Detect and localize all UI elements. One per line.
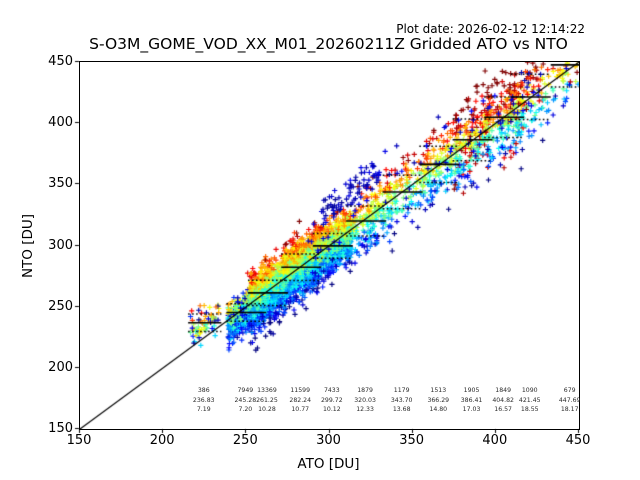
y-tick-label: 200: [33, 361, 73, 374]
bin-stat-std: 18.17: [544, 405, 596, 415]
scatter-canvas: [80, 62, 579, 429]
bin-stats-column: 679447.6918.17: [544, 386, 596, 415]
y-tick-label: 350: [33, 177, 73, 190]
plot-area: [79, 61, 580, 430]
x-tick-label: 150: [49, 434, 109, 447]
x-tick-label: 300: [299, 434, 359, 447]
plot-date-text: Plot date: 2026-02-12 12:14:22: [0, 22, 585, 36]
y-tick-label: 400: [33, 116, 73, 129]
x-axis-title: ATO [DU]: [79, 456, 578, 472]
y-axis-title: NTO [DU]: [20, 186, 36, 306]
bin-statistics-table: 386236.837.197949245.287.2013369261.2510…: [79, 386, 578, 420]
x-tick-label: 400: [465, 434, 525, 447]
x-tick-label: 350: [382, 434, 442, 447]
y-tick-label: 450: [33, 55, 73, 68]
x-tick-label: 450: [548, 434, 608, 447]
y-tick-label: 250: [33, 300, 73, 313]
figure-canvas: Plot date: 2026-02-12 12:14:22 S-O3M_GOM…: [0, 0, 640, 480]
page-title: S-O3M_GOME_VOD_XX_M01_20260211Z Gridded …: [79, 35, 578, 53]
x-tick-label: 200: [132, 434, 192, 447]
y-tick-label: 300: [33, 239, 73, 252]
x-tick-label: 250: [215, 434, 275, 447]
x-axis-tick-labels: 150200250300350400450: [0, 434, 640, 454]
bin-stat-count: 679: [544, 386, 596, 396]
bin-stat-mean: 447.69: [544, 396, 596, 406]
